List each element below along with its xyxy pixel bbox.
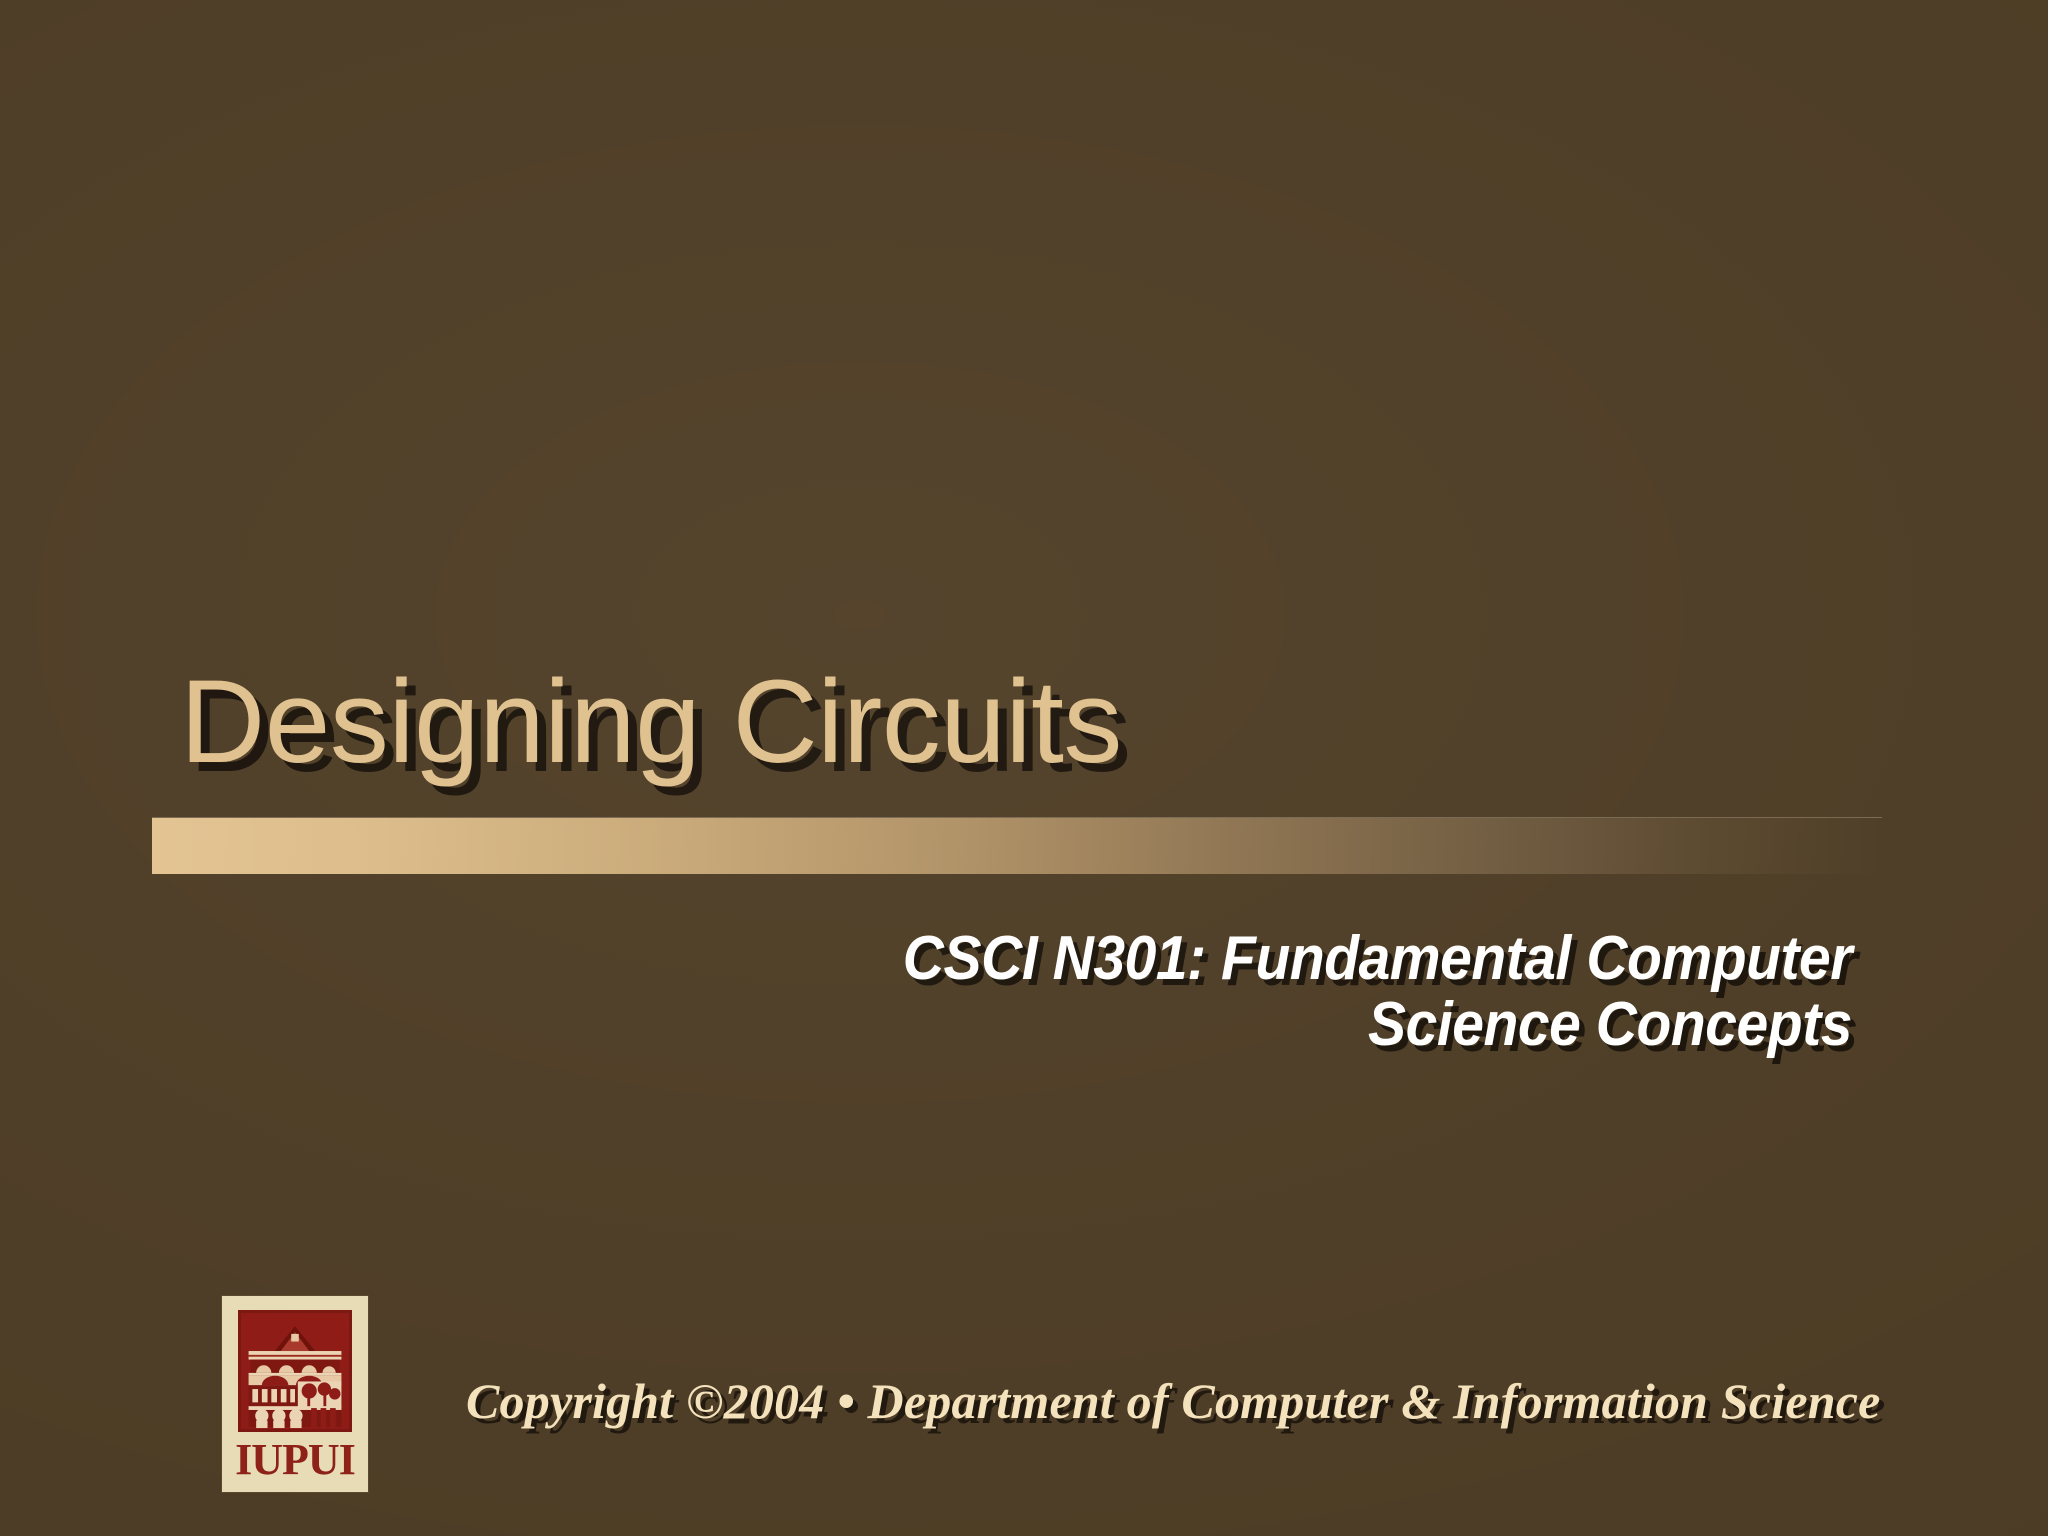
slide-subtitle-line-1: CSCI N301: Fundamental Computer: [472, 926, 1852, 992]
slide-subtitle-line-2: Science Concepts: [472, 992, 1852, 1058]
copyright-notice: Copyright ©2004 • Department of Computer…: [466, 1372, 1881, 1430]
iupui-crest-icon: [238, 1310, 352, 1432]
presentation-slide: Designing Circuits CSCI N301: Fundamenta…: [0, 0, 2048, 1536]
iupui-wordmark: IUPUI: [222, 1436, 368, 1484]
iupui-logo: IUPUI: [222, 1296, 368, 1492]
slide-title: Designing Circuits: [180, 663, 1940, 781]
title-divider-bar: [152, 818, 1882, 874]
slide-subtitle: CSCI N301: Fundamental Computer Science …: [472, 926, 1852, 1059]
